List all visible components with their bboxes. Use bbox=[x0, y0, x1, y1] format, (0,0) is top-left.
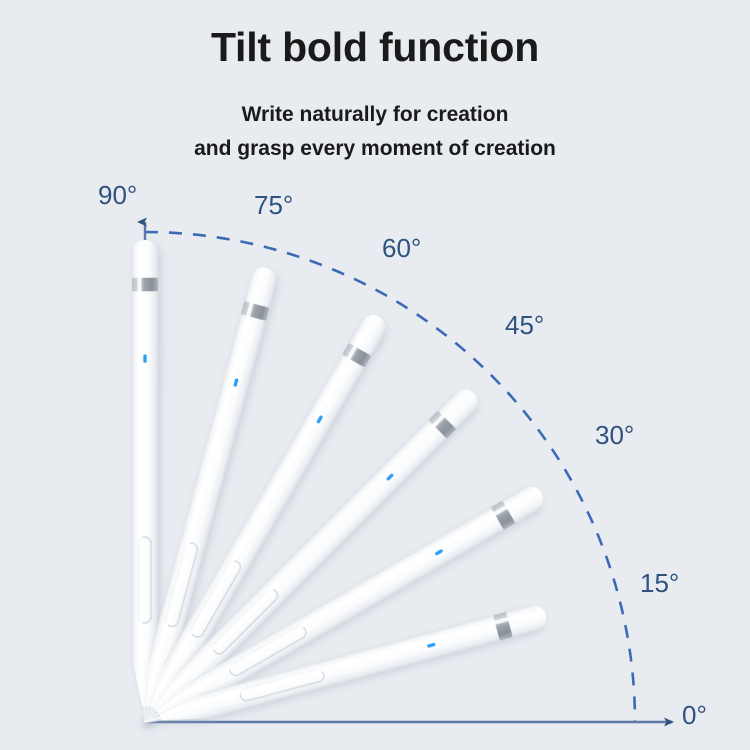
label-15: 15° bbox=[640, 568, 679, 599]
stylus-tilt-angle-diagram bbox=[0, 0, 750, 750]
stylus-group bbox=[132, 240, 549, 735]
stylus-highlight bbox=[140, 263, 141, 660]
stylus-led-indicator bbox=[143, 354, 146, 362]
label-30: 30° bbox=[595, 420, 634, 451]
label-0: 0° bbox=[682, 700, 707, 731]
stylus-metal-band bbox=[132, 278, 158, 292]
label-60: 60° bbox=[382, 233, 421, 264]
product-feature-slide: Tilt bold function Write naturally for c… bbox=[0, 0, 750, 750]
label-75: 75° bbox=[254, 190, 293, 221]
label-45: 45° bbox=[505, 310, 544, 341]
label-90: 90° bbox=[98, 180, 137, 211]
